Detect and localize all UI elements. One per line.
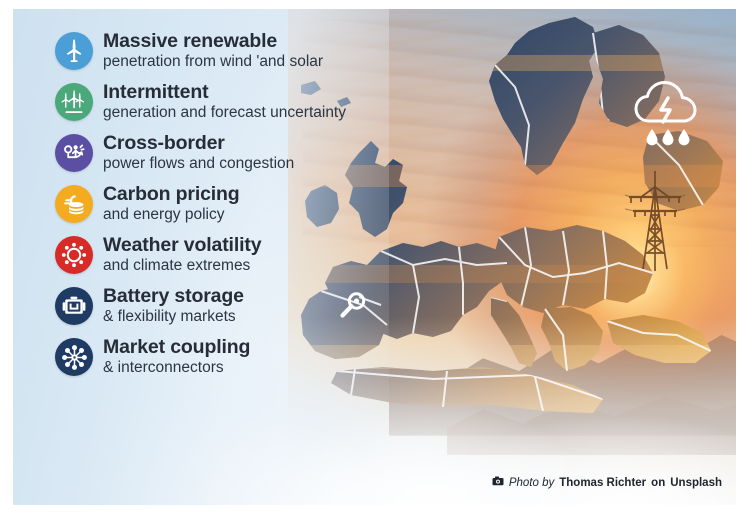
list-item-title: Market coupling (103, 336, 250, 358)
network-hub-icon (55, 338, 93, 376)
list-item-subtitle: & flexibility markets (103, 308, 244, 326)
list-item-subtitle: penetration from wind 'and solar (103, 53, 323, 71)
infographic-canvas: Massive renewable penetration from wind … (0, 0, 751, 524)
list-item-title: Cross-border (103, 132, 294, 154)
list-item[interactable]: Market coupling & interconnectors (55, 335, 355, 379)
coins-icon (55, 185, 93, 223)
list-item-subtitle: & interconnectors (103, 359, 250, 377)
credit-on-label: on (651, 477, 665, 489)
list-item-title: Massive renewable (103, 30, 323, 52)
list-item[interactable]: Massive renewable penetration from wind … (55, 29, 355, 73)
battery-storage-icon (55, 287, 93, 325)
list-item-text: Cross-border power flows and congestion (103, 131, 294, 174)
photo-credit: Photo by Thomas Richter on Unsplash (492, 476, 722, 489)
sun-burst-icon (55, 236, 93, 274)
list-item-title: Weather volatility (103, 234, 261, 256)
list-item-title: Carbon pricing (103, 183, 240, 205)
list-item-subtitle: generation and forecast uncertainty (103, 104, 346, 122)
list-item-text: Massive renewable penetration from wind … (103, 29, 323, 72)
challenges-list: Massive renewable penetration from wind … (55, 29, 355, 386)
list-item[interactable]: Cross-border power flows and congestion (55, 131, 355, 175)
list-item-subtitle: power flows and congestion (103, 155, 294, 173)
wind-farm-icon (55, 83, 93, 121)
infographic-board: Massive renewable penetration from wind … (13, 9, 736, 505)
list-item-title: Intermittent (103, 81, 346, 103)
list-item-subtitle: and energy policy (103, 206, 240, 224)
camera-icon (492, 476, 504, 489)
list-item[interactable]: Battery storage & flexibility markets (55, 284, 355, 328)
transmission-tower-icon (625, 169, 685, 273)
list-item-subtitle: and climate extremes (103, 257, 261, 275)
list-item-text: Battery storage & flexibility markets (103, 284, 244, 327)
power-transfer-icon (55, 134, 93, 172)
list-item[interactable]: Weather volatility and climate extremes (55, 233, 355, 277)
list-item-title: Battery storage (103, 285, 244, 307)
credit-source: Unsplash (670, 477, 722, 489)
credit-photographer: Thomas Richter (559, 477, 646, 489)
list-item-text: Carbon pricing and energy policy (103, 182, 240, 225)
list-item[interactable]: Intermittent generation and forecast unc… (55, 80, 355, 124)
list-item-text: Weather volatility and climate extremes (103, 233, 261, 276)
wind-turbine-icon (55, 32, 93, 70)
cloud-lightning-rain-icon (630, 77, 708, 151)
list-item[interactable]: Carbon pricing and energy policy (55, 182, 355, 226)
list-item-text: Intermittent generation and forecast unc… (103, 80, 346, 123)
list-item-text: Market coupling & interconnectors (103, 335, 250, 378)
credit-by-label: Photo by (509, 477, 554, 489)
